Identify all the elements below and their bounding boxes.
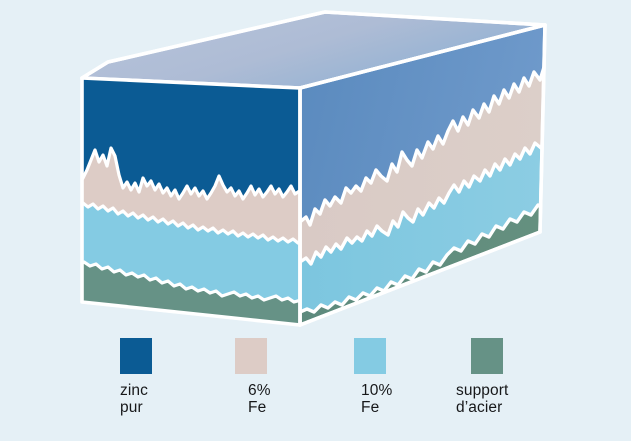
legend-label-10-fe: 10% Fe — [361, 382, 392, 416]
legend-label-6-fe: 6% Fe — [248, 382, 271, 416]
legend-item-10-fe[interactable]: 10% Fe — [334, 338, 446, 441]
legend-swatch-6-fe — [235, 338, 267, 374]
legend-item-zinc-pur[interactable]: zinc pur — [110, 338, 222, 441]
legend-item-support-acier[interactable]: support d’acier — [446, 338, 558, 441]
legend: zinc pur 6% Fe 10% Fe support d’acier — [0, 338, 631, 441]
legend-label-zinc-pur: zinc pur — [120, 382, 148, 416]
legend-swatch-support-acier — [471, 338, 503, 374]
legend-label-support-acier: support d’acier — [456, 382, 508, 416]
legend-item-6-fe[interactable]: 6% Fe — [222, 338, 334, 441]
front-face-layers — [78, 72, 304, 332]
figure-stage: zinc pur 6% Fe 10% Fe support d’acier — [0, 0, 631, 441]
legend-swatch-zinc-pur — [120, 338, 152, 374]
legend-swatch-10-fe — [354, 338, 386, 374]
